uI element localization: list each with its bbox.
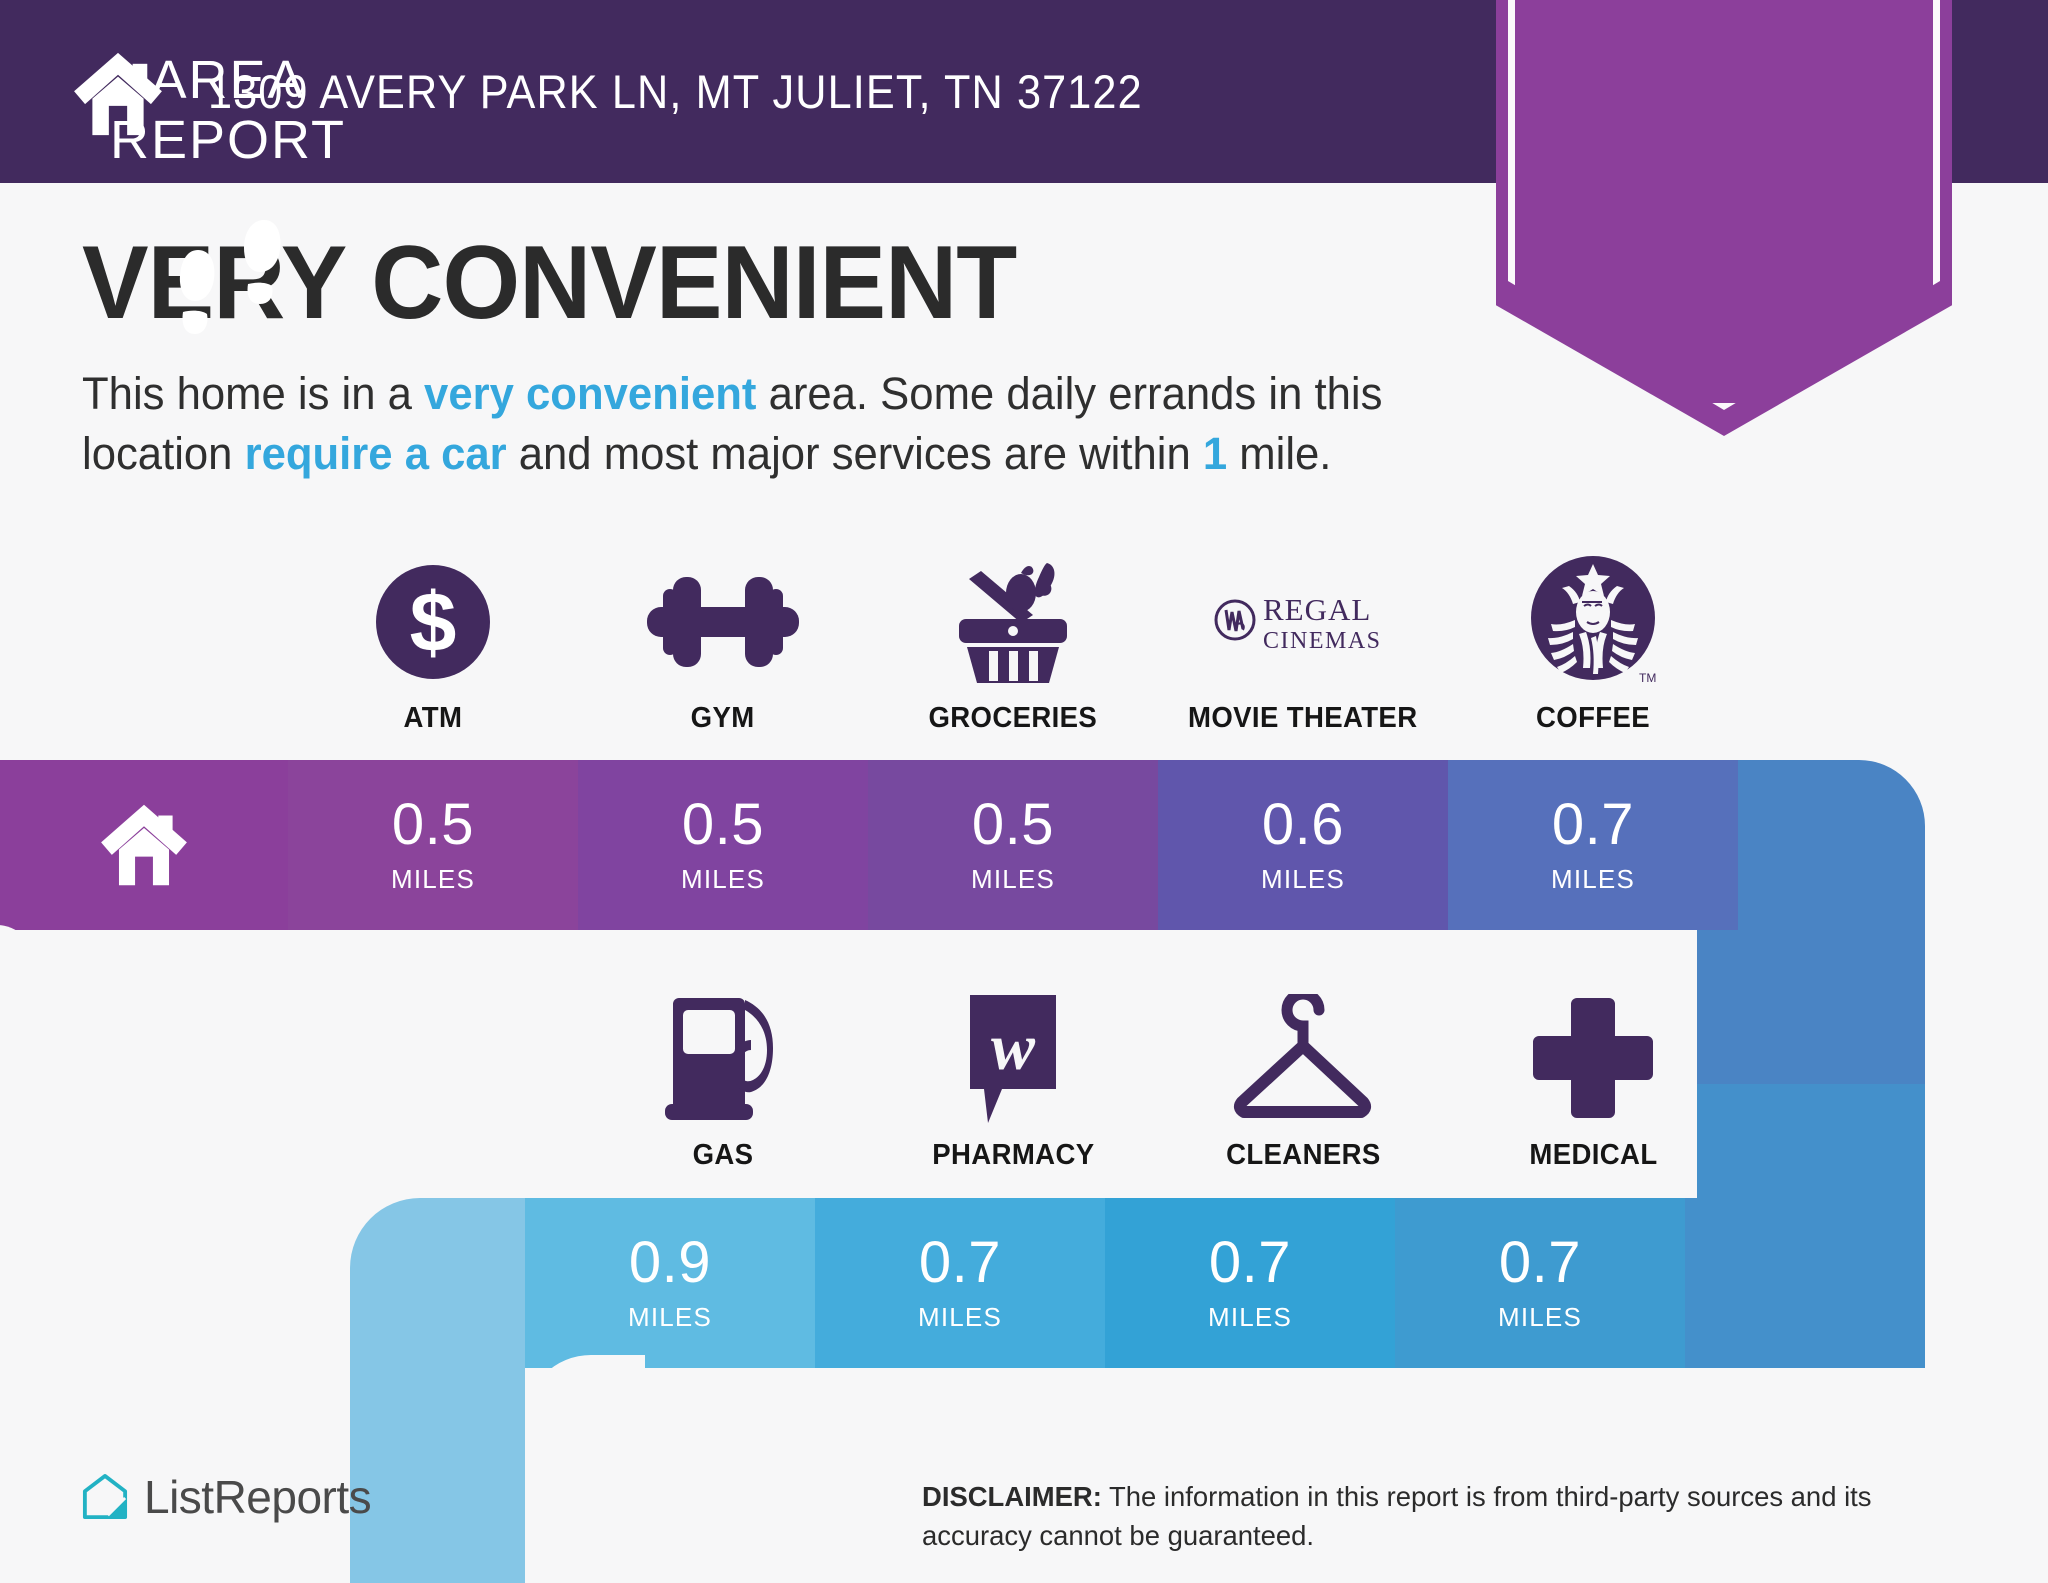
amenity-movie-theater: REGAL CINEMAS MOVIE THEATER: [1158, 545, 1448, 735]
hanger-icon: [1224, 993, 1382, 1125]
amenity-pharmacy: w PHARMACY: [868, 982, 1158, 1172]
listreports-logo: ListReports: [82, 1470, 371, 1524]
disclaimer: DISCLAIMER: The information in this repo…: [922, 1478, 1971, 1555]
distance-value: 0.5: [682, 796, 764, 854]
amenity-gym: GYM: [578, 545, 868, 735]
distance-cell-medical: 0.7 MILES: [1395, 1198, 1685, 1368]
dollar-circle-icon: $: [374, 556, 492, 688]
amenity-label: GYM: [691, 702, 755, 735]
home-icon: [98, 803, 190, 887]
svg-text:REGAL: REGAL: [1263, 592, 1371, 627]
badge-line-2: REPORT: [0, 110, 456, 170]
hero-description: This home is in a very convenient area. …: [82, 364, 1430, 483]
distance-unit: MILES: [1208, 1302, 1292, 1333]
hero-highlight-2: require a car: [245, 428, 507, 479]
bar-lead-2: [350, 1198, 525, 1368]
svg-text:TM: TM: [1639, 671, 1656, 685]
distance-unit: MILES: [971, 864, 1055, 895]
distance-unit: MILES: [1261, 864, 1345, 895]
amenity-label: GAS: [693, 1139, 754, 1172]
amenity-label: MOVIE THEATER: [1188, 702, 1417, 735]
disclaimer-label: DISCLAIMER:: [922, 1481, 1102, 1512]
gas-pump-icon: [659, 993, 787, 1125]
hero-text-4: mile.: [1227, 428, 1331, 479]
bar-stem-bottom: [350, 1360, 525, 1583]
amenity-coffee: TM COFFEE: [1448, 545, 1738, 735]
svg-text:w: w: [991, 1011, 1036, 1084]
regal-cinemas-logo: REGAL CINEMAS: [1213, 556, 1393, 688]
amenity-atm: $ ATM: [288, 545, 578, 735]
distance-bar-row-1: 0.5 MILES 0.5 MILES 0.5 MILES 0.6 MILES …: [0, 760, 1760, 930]
footprints-icon: [168, 212, 290, 340]
distance-unit: MILES: [1498, 1302, 1582, 1333]
distance-unit: MILES: [1551, 864, 1635, 895]
starbucks-logo: TM: [1529, 556, 1657, 688]
amenity-groceries: GROCERIES: [868, 545, 1158, 735]
distance-value: 0.5: [972, 796, 1054, 854]
listreports-logo-text: ListReports: [144, 1470, 371, 1524]
distance-unit: MILES: [918, 1302, 1002, 1333]
bar-tail-2: [1685, 1198, 1925, 1368]
area-report-badge: [1496, 0, 1952, 436]
amenity-label: GROCERIES: [929, 702, 1098, 735]
distance-cell-cleaners: 0.7 MILES: [1105, 1198, 1395, 1368]
distance-value: 0.7: [1552, 796, 1634, 854]
svg-text:$: $: [410, 575, 457, 669]
amenity-label: PHARMACY: [932, 1139, 1094, 1172]
bar-connector-cutout: [0, 925, 34, 1215]
badge-line-1: AREA: [0, 50, 456, 110]
badge-label: AREA REPORT: [0, 50, 456, 171]
amenity-cleaners: CLEANERS: [1158, 982, 1448, 1172]
walgreens-logo: w: [958, 993, 1068, 1125]
distance-cell-gym: 0.5 MILES: [578, 760, 868, 930]
amenity-gas: GAS: [578, 982, 868, 1172]
hero-section: VERY CONVENIENT This home is in a very c…: [82, 228, 1482, 483]
bar-stem-cutout: [525, 1355, 645, 1583]
hero-text-3: and most major services are within: [507, 428, 1203, 479]
distance-value: 0.7: [1499, 1234, 1581, 1292]
amenity-label: COFFEE: [1536, 702, 1650, 735]
distance-value: 0.9: [629, 1234, 711, 1292]
distance-cell-groceries: 0.5 MILES: [868, 760, 1158, 930]
distance-value: 0.5: [392, 796, 474, 854]
distance-bar-row-2: 0.9 MILES 0.7 MILES 0.7 MILES 0.7 MILES: [350, 1198, 1925, 1368]
bar-tail-1: [1738, 760, 1760, 930]
hero-highlight-3: 1: [1203, 428, 1227, 479]
distance-unit: MILES: [681, 864, 765, 895]
amenity-medical: MEDICAL: [1448, 982, 1738, 1172]
distance-value: 0.6: [1262, 796, 1344, 854]
grocery-basket-icon: [947, 556, 1079, 688]
dumbbell-icon: [643, 556, 803, 688]
distance-cell-movie-theater: 0.6 MILES: [1158, 760, 1448, 930]
distance-value: 0.7: [1209, 1234, 1291, 1292]
medical-cross-icon: [1531, 993, 1655, 1125]
amenity-label: MEDICAL: [1529, 1139, 1657, 1172]
distance-unit: MILES: [391, 864, 475, 895]
area-report-page: 1309 AVERY PARK LN, MT JULIET, TN 37122 …: [0, 0, 2048, 1583]
svg-text:CINEMAS: CINEMAS: [1263, 628, 1382, 654]
distance-cell-gas: 0.9 MILES: [525, 1198, 815, 1368]
distance-cell-atm: 0.5 MILES: [288, 760, 578, 930]
amenity-label: CLEANERS: [1226, 1139, 1381, 1172]
hero-highlight-1: very convenient: [424, 368, 756, 419]
amenity-icon-row-1: $ ATM GYM: [288, 545, 1760, 735]
distance-unit: MILES: [628, 1302, 712, 1333]
hero-text-1: This home is in a: [82, 368, 424, 419]
amenity-icon-row-2: GAS w PHARMACY CLEANERS: [578, 982, 1760, 1172]
distance-cell-pharmacy: 0.7 MILES: [815, 1198, 1105, 1368]
distance-cell-coffee: 0.7 MILES: [1448, 760, 1738, 930]
amenity-label: ATM: [404, 702, 463, 735]
bar-home-marker: [0, 760, 288, 930]
listreports-house-icon: [82, 1473, 128, 1521]
badge-inner-border: [1508, 0, 1940, 410]
distance-value: 0.7: [919, 1234, 1001, 1292]
